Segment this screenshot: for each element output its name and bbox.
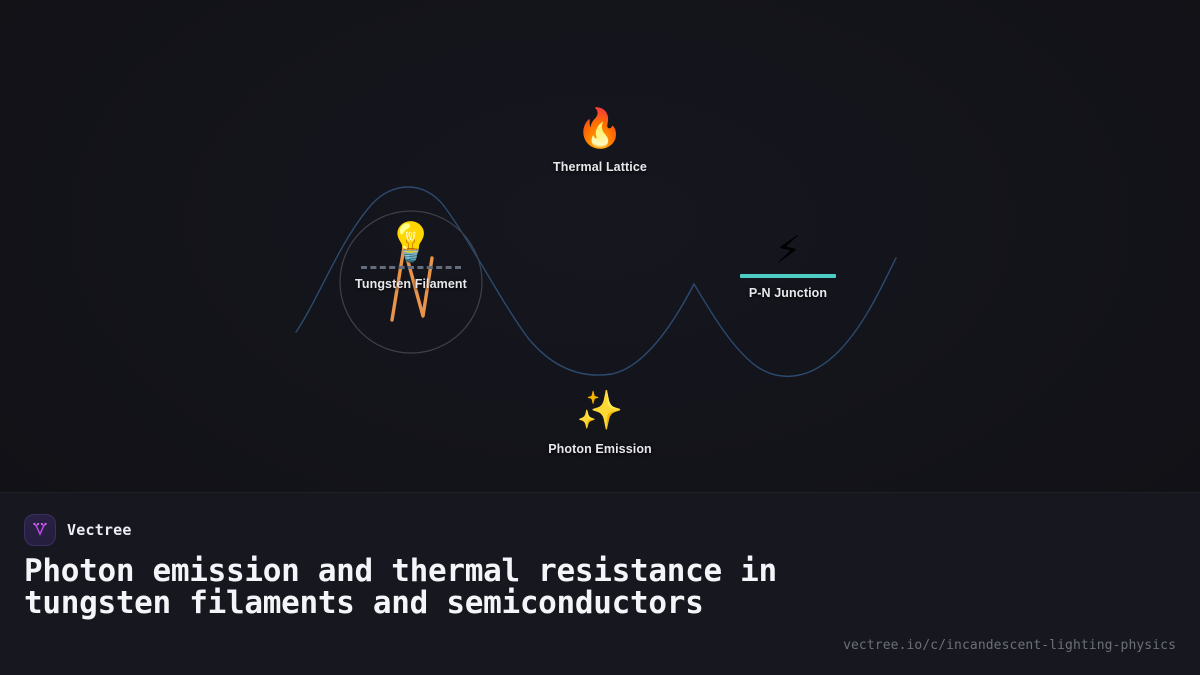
brand-row[interactable]: Vectree bbox=[24, 514, 132, 546]
node-label-photon-emission: Photon Emission bbox=[548, 442, 652, 456]
brand-name: Vectree bbox=[67, 521, 132, 539]
node-label-thermal-lattice: Thermal Lattice bbox=[553, 160, 647, 174]
node-photon-emission[interactable]: ✨ Photon Emission bbox=[490, 386, 710, 456]
fire-emoji: 🔥 bbox=[576, 104, 623, 152]
node-tungsten-filament[interactable]: 💡 Tungsten Filament bbox=[301, 218, 521, 291]
pn-junction-accent-bar bbox=[740, 274, 836, 278]
light-bulb-emoji: 💡 bbox=[387, 218, 434, 266]
node-label-pn-junction: P-N Junction bbox=[749, 286, 827, 300]
page-title: Photon emission and thermal resistance i… bbox=[24, 555, 844, 619]
source-url: vectree.io/c/incandescent-lighting-physi… bbox=[843, 638, 1176, 653]
sparkles-emoji: ✨ bbox=[576, 386, 623, 434]
node-label-tungsten-filament: Tungsten Filament bbox=[355, 277, 467, 291]
filament-dashed-connector bbox=[361, 266, 461, 269]
concept-card: 🔥 Thermal Lattice 💡 Tungsten Filament ⚡ … bbox=[0, 0, 1200, 675]
node-pn-junction[interactable]: ⚡ P-N Junction bbox=[678, 226, 898, 300]
graph-canvas: 🔥 Thermal Lattice 💡 Tungsten Filament ⚡ … bbox=[0, 0, 1200, 492]
card-footer: Vectree Photon emission and thermal resi… bbox=[0, 492, 1200, 675]
node-thermal-lattice[interactable]: 🔥 Thermal Lattice bbox=[490, 104, 710, 174]
vectree-branch-logo-icon bbox=[24, 514, 56, 546]
high-voltage-emoji: ⚡ bbox=[775, 226, 802, 274]
